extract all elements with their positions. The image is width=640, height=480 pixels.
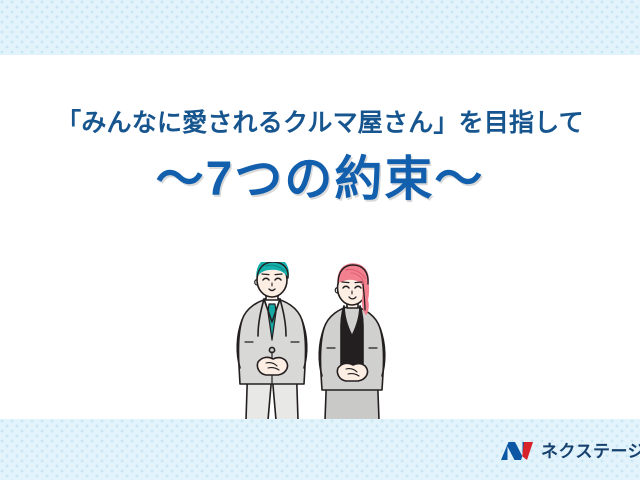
headline-secondary: 〜7つの約束〜 bbox=[0, 152, 640, 207]
brand-logo: ネクステージ bbox=[500, 436, 640, 466]
brand-name-label: ネクステージ bbox=[541, 443, 640, 460]
top-polka-dot-band bbox=[0, 0, 640, 55]
female-staff-figure bbox=[319, 264, 385, 420]
headline-primary: 「みんなに愛されるクルマ屋さん」を目指して bbox=[0, 108, 640, 139]
male-staff-figure bbox=[237, 262, 307, 420]
nextage-n-mark bbox=[500, 439, 534, 463]
headline-block: 「みんなに愛されるクルマ屋さん」を目指して 〜7つの約束〜 bbox=[0, 108, 640, 207]
promo-banner: 「みんなに愛されるクルマ屋さん」を目指して 〜7つの約束〜 bbox=[0, 0, 640, 480]
bowing-staff-illustration bbox=[228, 262, 423, 422]
